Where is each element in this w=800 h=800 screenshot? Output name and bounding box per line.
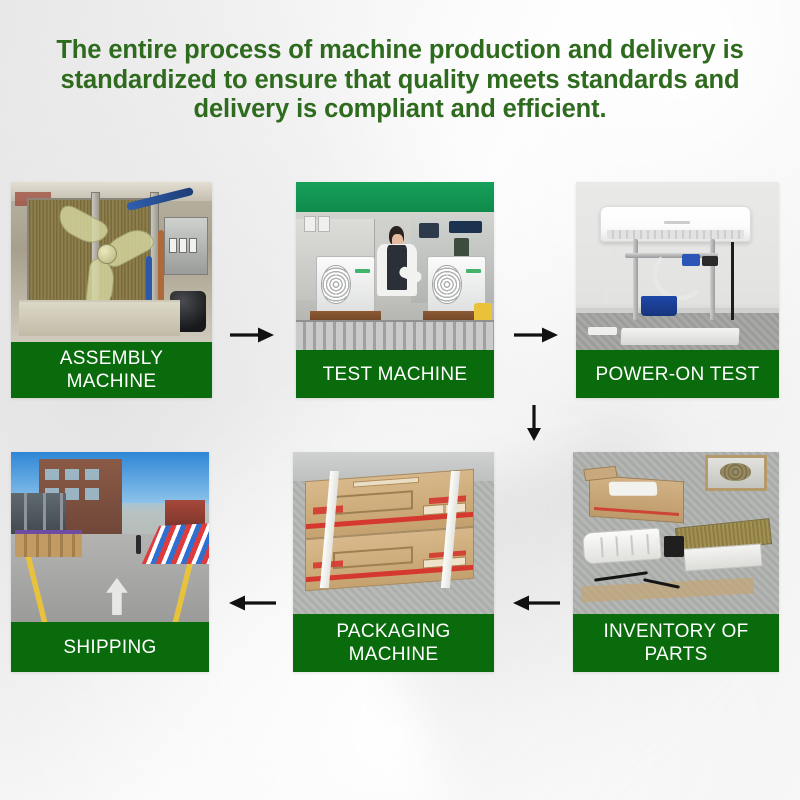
test-machine-illustration [296,182,494,350]
page-title: The entire process of machine production… [22,36,778,125]
power-on-test-illustration [576,182,779,350]
arrow-down-icon-poweron-to-inventory [521,404,547,442]
step-label-inventory-of-parts: INVENTORY OF PARTS [573,614,779,672]
step-photo-test-machine [296,182,494,350]
step-photo-packaging-machine [293,452,494,614]
process-step-inventory-of-parts[interactable]: INVENTORY OF PARTS [573,452,779,672]
process-step-test-machine[interactable]: TEST MACHINE [296,182,494,398]
arrow-right-icon-test-to-poweron [513,324,559,346]
step-photo-shipping [11,452,209,622]
step-photo-inventory-of-parts [573,452,779,614]
step-label-assembly-machine: ASSEMBLY MACHINE [11,342,212,398]
packaging-machine-illustration [293,452,494,614]
arrow-left-icon-packaging-to-shipping [225,592,277,614]
inventory-of-parts-illustration [573,452,779,614]
process-step-power-on-test[interactable]: POWER-ON TEST [576,182,779,398]
process-step-packaging-machine[interactable]: PACKAGING MACHINE [293,452,494,672]
arrow-left-icon-inventory-to-packaging [509,592,561,614]
step-label-shipping: SHIPPING [11,622,209,672]
process-step-assembly-machine[interactable]: ASSEMBLY MACHINE [11,182,212,398]
step-photo-power-on-test [576,182,779,350]
arrow-right-icon-assembly-to-test [229,324,275,346]
step-label-packaging-machine: PACKAGING MACHINE [293,614,494,672]
step-label-power-on-test: POWER-ON TEST [576,350,779,398]
process-step-shipping[interactable]: SHIPPING [11,452,209,672]
process-infographic: The entire process of machine production… [0,0,800,800]
shipping-illustration [11,452,209,622]
step-photo-assembly-machine [11,182,212,342]
assembly-machine-illustration [11,182,212,342]
step-label-test-machine: TEST MACHINE [296,350,494,398]
